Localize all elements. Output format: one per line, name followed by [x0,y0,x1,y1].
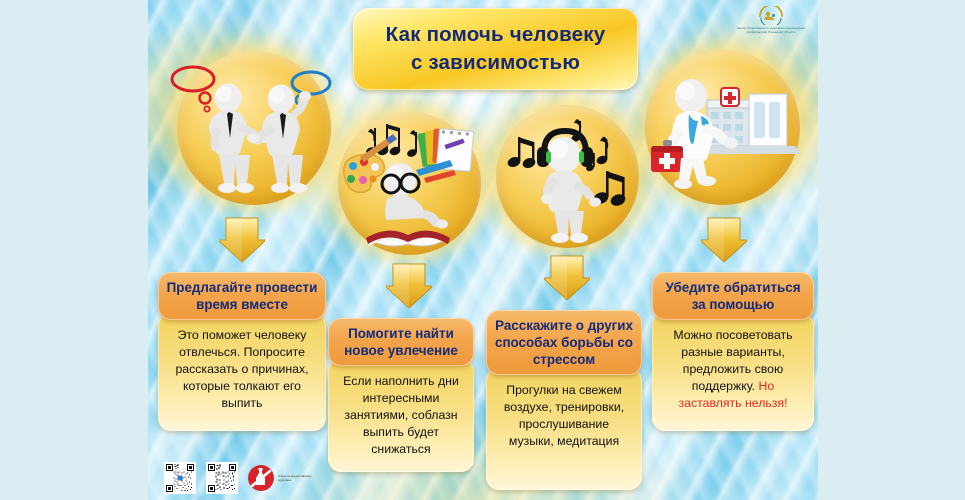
down-arrow-icon-4 [701,216,747,264]
no-alcohol-bottle-icon [248,465,274,491]
doctor-running-hospital-icon [645,50,800,205]
infographic-poster: Как помочь человеку с зависимостью Центр… [148,0,818,500]
card-stress-heading: Расскажите о других способах борьбы со с… [486,310,642,375]
card-hobby-heading: Помогите найти новое увлечение [328,318,474,366]
organization-name: Центр общественного здоровья и медицинск… [731,26,811,35]
card-together-heading: Предлагайте провести время вместе [158,272,326,320]
card-help-body: Можно посоветовать разные варианты, пред… [652,313,814,431]
card-suggest-time-together: Предлагайте провести время вместе Это по… [158,272,326,431]
no-alcohol-badge-group: Алкоголь вредит вашему здоровью [248,465,324,491]
title-line-2: с зависимостью [411,51,580,75]
down-arrow-icon-3 [544,254,590,302]
card-help-body-text: Можно посоветовать разные варианты, пред… [673,328,792,393]
person-headphones-music-icon [496,105,639,248]
illustration-person-music [496,105,639,248]
card-stress-body: Прогулки на свежем воздухе, тренировки, … [486,368,642,490]
person-reading-hobby-icon [338,112,481,255]
qr-code-icon [208,464,236,492]
illustration-doctor-hospital [645,50,800,205]
no-alcohol-label: Алкоголь вредит вашему здоровью [278,474,324,483]
card-help-heading: Убедите обратиться за помощью [652,272,814,320]
card-seek-professional-help: Убедите обратиться за помощью Можно посо… [652,272,814,431]
down-arrow-icon-1 [219,216,265,264]
organization-logo: Центр общественного здоровья и медицинск… [728,4,814,48]
qr-code-2[interactable] [206,462,238,494]
crossed-bottle-glyph [248,465,274,491]
title-line-1: Как помочь человеку [386,23,606,47]
card-hobby-body: Если наполнить дни интересными занятиями… [328,359,474,472]
qr-code-icon [166,464,194,492]
illustration-two-people-talking [177,51,331,205]
mother-and-child-emblem-icon [758,6,784,25]
page-canvas: Как помочь человеку с зависимостью Центр… [0,0,965,500]
two-people-talking-icon [177,51,331,205]
card-stress-coping-methods: Расскажите о других способах борьбы со с… [486,310,642,490]
illustration-person-hobby [338,112,481,255]
poster-title: Как помочь человеку с зависимостью [353,8,638,90]
card-together-body: Это поможет человеку отвлечься. Попросит… [158,313,326,431]
card-find-new-hobby: Помогите найти новое увлечение Если напо… [328,318,474,472]
qr-code-1[interactable] [164,462,196,494]
down-arrow-icon-2 [386,262,432,310]
footer-badges: Алкоголь вредит вашему здоровью [164,462,324,494]
